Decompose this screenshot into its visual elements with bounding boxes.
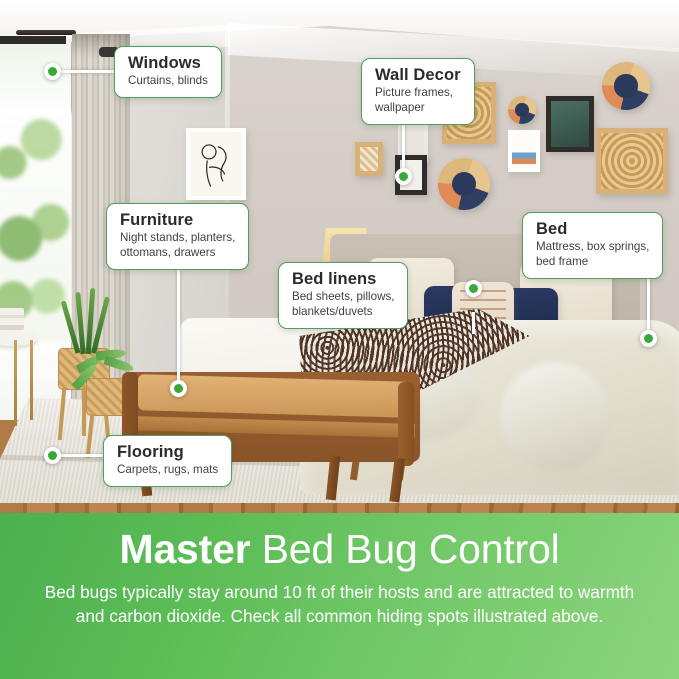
callout-bed-linens-title: Bed linens (292, 270, 394, 289)
callout-windows-title: Windows (128, 54, 208, 73)
callout-furniture[interactable]: Furniture Night stands, planters, ottoma… (106, 203, 249, 270)
bedroom-photo: Windows Curtains, blinds Wall Decor Pict… (0, 0, 679, 513)
banner-title: Master Bed Bug Control (0, 528, 679, 571)
line-art-poster (186, 128, 246, 200)
stacked-books (0, 308, 24, 330)
wall-basket-top-right (602, 62, 650, 110)
gallery-frame-small-left (355, 142, 383, 176)
connector-dot-bed-linens (465, 280, 482, 297)
callout-furniture-subtitle: Night stands, planters, ottomans, drawer… (120, 231, 235, 261)
gallery-frame-dark-center (546, 96, 594, 152)
callout-windows-subtitle: Curtains, blinds (128, 74, 208, 89)
side-table-leg (14, 340, 17, 426)
callout-wall-decor[interactable]: Wall Decor Picture frames, wallpaper (361, 58, 475, 125)
bench-arm-right (398, 382, 414, 466)
connector-dot-furniture (170, 380, 187, 397)
callout-bed-linens[interactable]: Bed linens Bed sheets, pillows, blankets… (278, 262, 408, 329)
connector-dot-wall-decor (395, 168, 412, 185)
banner-title-bold: Master (119, 526, 250, 572)
gallery-frame-print (508, 130, 540, 172)
callout-flooring-subtitle: Carpets, rugs, mats (117, 463, 218, 478)
banner-title-rest: Bed Bug Control (250, 526, 559, 572)
gallery-frame-swirl-right (596, 128, 668, 194)
connector-dot-windows (44, 63, 61, 80)
callout-wall-decor-title: Wall Decor (375, 66, 461, 85)
callout-flooring[interactable]: Flooring Carpets, rugs, mats (103, 435, 232, 487)
side-table-leg (30, 340, 33, 420)
line-art-drawing (190, 132, 242, 196)
banner-body-text: Bed bugs typically stay around 10 ft of … (40, 580, 640, 629)
connector-dot-flooring (44, 447, 61, 464)
infographic-root: Windows Curtains, blinds Wall Decor Pict… (0, 0, 679, 679)
callout-bed-title: Bed (536, 220, 649, 239)
connector-dot-bed (640, 330, 657, 347)
connector-line-windows (56, 70, 118, 73)
callout-bed-subtitle: Mattress, box springs, bed frame (536, 240, 649, 270)
bottom-banner: Master Bed Bug Control Bed bugs typicall… (0, 513, 679, 679)
connector-line-furniture (177, 256, 180, 386)
callout-windows[interactable]: Windows Curtains, blinds (114, 46, 222, 98)
callout-wall-decor-subtitle: Picture frames, wallpaper (375, 86, 461, 116)
callout-bed-linens-subtitle: Bed sheets, pillows, blankets/duvets (292, 290, 394, 320)
wall-basket-small (508, 96, 536, 124)
swirl-art (601, 133, 663, 189)
duvet-fold (500, 362, 610, 472)
callout-furniture-title: Furniture (120, 211, 235, 230)
connector-line-bed-linens (472, 312, 475, 334)
callout-flooring-title: Flooring (117, 443, 218, 462)
window-frame (0, 36, 66, 44)
wall-basket-center (438, 158, 490, 210)
curtain-rod (16, 30, 76, 35)
callout-bed[interactable]: Bed Mattress, box springs, bed frame (522, 212, 663, 279)
